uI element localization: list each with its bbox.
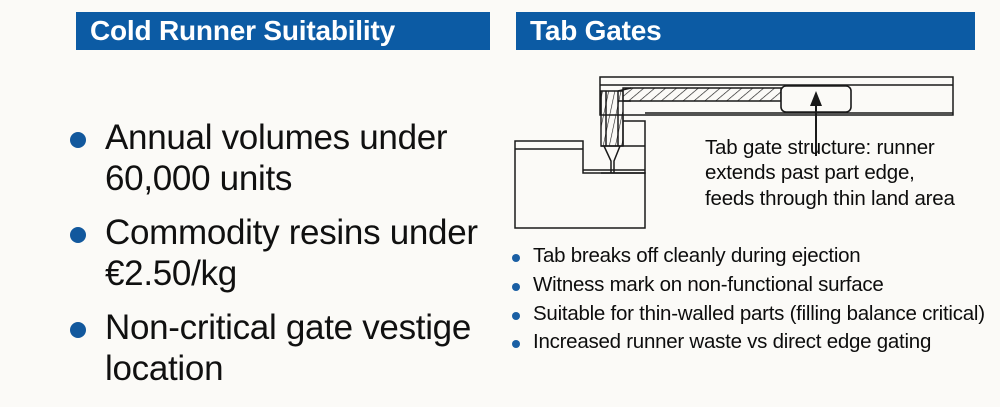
diagram-annotation: Tab gate structure: runner extends past …	[705, 135, 995, 211]
right-panel-title: Tab Gates	[530, 17, 662, 45]
right-panel-header: Tab Gates	[516, 12, 975, 50]
list-item-label: Tab breaks off cleanly during ejection	[533, 243, 860, 269]
list-item-label: Witness mark on non-functional surface	[533, 272, 884, 298]
bullet-dot-icon	[512, 340, 520, 348]
annotation-line: extends past part edge,	[705, 160, 995, 185]
left-panel-header: Cold Runner Suitability	[76, 12, 490, 50]
bullet-dot-icon	[512, 283, 520, 291]
bullet-dot-icon	[70, 227, 86, 243]
annotation-line: Tab gate structure: runner	[705, 135, 995, 160]
list-item: Suitable for thin-walled parts (filling …	[512, 301, 992, 327]
bullet-dot-icon	[512, 254, 520, 262]
list-item-label: Commodity resins under €2.50/kg	[105, 213, 500, 294]
right-bullet-list: Tab breaks off cleanly during ejection W…	[512, 243, 992, 358]
annotation-line: feeds through thin land area	[705, 186, 995, 211]
list-item: Increased runner waste vs direct edge ga…	[512, 329, 992, 355]
left-panel-title: Cold Runner Suitability	[90, 17, 395, 45]
bullet-dot-icon	[70, 322, 86, 338]
bullet-dot-icon	[70, 132, 86, 148]
list-item-label: Increased runner waste vs direct edge ga…	[533, 329, 931, 355]
left-bullet-list: Annual volumes under 60,000 units Commod…	[70, 118, 500, 404]
list-item: Annual volumes under 60,000 units	[70, 118, 500, 199]
list-item-label: Suitable for thin-walled parts (filling …	[533, 301, 985, 327]
list-item: Non-critical gate vestige location	[70, 308, 500, 389]
list-item-label: Non-critical gate vestige location	[105, 308, 500, 389]
list-item: Commodity resins under €2.50/kg	[70, 213, 500, 294]
bullet-dot-icon	[512, 312, 520, 320]
slide-root: Cold Runner Suitability Tab Gates Annual…	[0, 0, 1000, 407]
list-item: Witness mark on non-functional surface	[512, 272, 992, 298]
list-item: Tab breaks off cleanly during ejection	[512, 243, 992, 269]
tab-gate-diagram: Tab gate structure: runner extends past …	[505, 58, 1000, 233]
list-item-label: Annual volumes under 60,000 units	[105, 118, 500, 199]
